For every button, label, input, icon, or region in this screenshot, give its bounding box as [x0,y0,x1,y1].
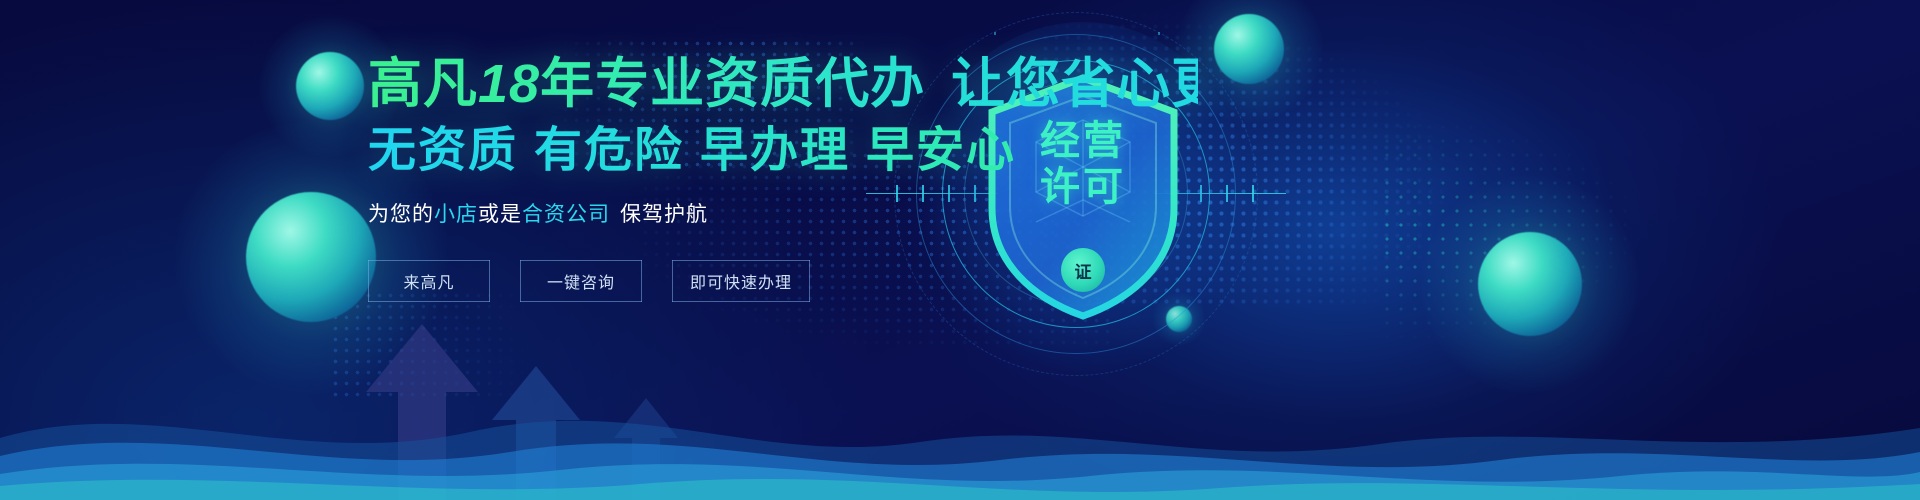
banner-subtitle: 为您的小店或是合资公司保驾护航 [368,200,1198,230]
tag-item-2-label: 一键咨询 [547,275,615,292]
headline-primary: 高凡18年专业资质代办让您省心更省力 [368,52,1198,116]
headline-secondary-seg-4: 早安心 [866,124,1016,177]
tag-item-1[interactable]: 来高凡 [368,260,490,302]
subtitle-tail: 保驾护航 [620,203,708,226]
tag-item-2[interactable]: 一键咨询 [520,260,642,302]
sphere-decor-icon [296,52,364,120]
subtitle-highlight-2: 合资公司 [522,203,610,226]
headline-primary-part-c: 让您省心更省力 [951,54,1336,114]
tag-item-3[interactable]: 即可快速办理 [672,260,810,302]
subtitle-highlight-1: 小店 [434,203,478,226]
headline-secondary-seg-3: 早办理 [700,124,850,177]
headline-secondary-seg-1: 无资质 [368,124,518,177]
tag-list: 来高凡 一键咨询 即可快速办理 [368,260,1198,302]
banner-copy: 高凡18年专业资质代办让您省心更省力 无资质有危险早办理早安心 为您的小店或是合… [368,52,1198,302]
headline-secondary-seg-2: 有危险 [534,124,684,177]
tag-item-1-label: 来高凡 [403,275,454,292]
promotional-banner: 经营 许可 证 高凡18年专业资质代办让您省心更省力 无资质有危险早办理早安心 … [0,0,1920,500]
tag-item-3-label: 即可快速办理 [690,275,792,292]
wave-decor [0,320,1920,500]
subtitle-lead: 为您的 [368,203,434,226]
headline-primary-part-b: 年专业资质代办 [540,54,925,114]
headline-primary-part-a: 高凡 [368,54,478,114]
subtitle-middle: 或是 [478,203,522,226]
headline-secondary: 无资质有危险早办理早安心 [368,122,1198,180]
headline-primary-number: 18 [478,54,540,114]
